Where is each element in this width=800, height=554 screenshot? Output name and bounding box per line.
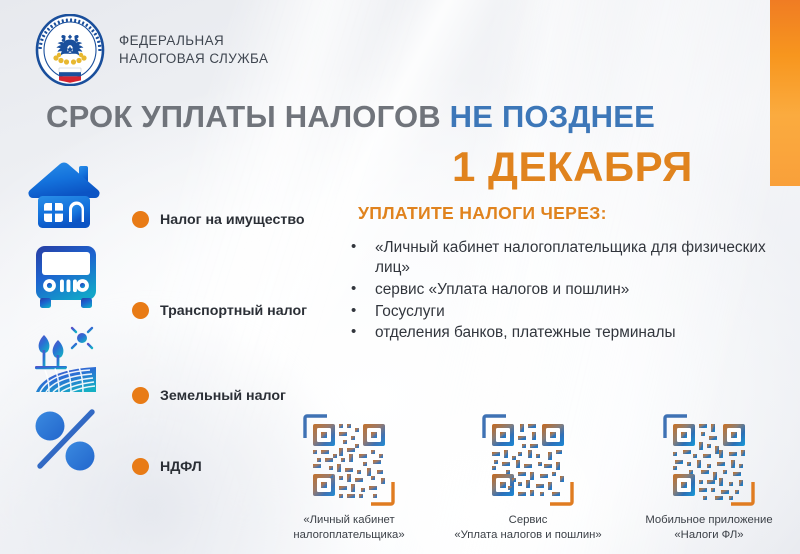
land-field-icon [22, 322, 114, 400]
bullet-dot-icon [132, 458, 149, 475]
chevron-decoration [770, 0, 800, 186]
chevron-decoration-base [770, 0, 800, 186]
tax-item-tag: Транспортный налог [132, 302, 307, 319]
qr-code-image[interactable] [663, 414, 755, 506]
pay-section-title: УПЛАТИТЕ НАЛОГИ ЧЕРЕЗ: [358, 203, 607, 224]
brand-name: ФЕДЕРАЛЬНАЯ НАЛОГОВАЯ СЛУЖБА [119, 32, 268, 67]
tax-item-property: Налог на имущество [16, 158, 326, 240]
qr-caption-line-2: налогоплательщика» [258, 528, 440, 543]
headline-blue-text: НЕ ПОЗДНЕЕ [450, 99, 655, 134]
bullet-dot-icon [132, 211, 149, 228]
deadline-date: 1 ДЕКАБРЯ [452, 143, 693, 191]
qr-code-image[interactable] [303, 414, 395, 506]
tax-item-land: Земельный налог [16, 322, 326, 404]
page-title: СРОК УПЛАТЫ НАЛОГОВ НЕ ПОЗДНЕЕ [46, 99, 655, 135]
pay-method-item: отделения банков, платежные терминалы [341, 323, 771, 343]
qr-caption: Сервис «Уплата налогов и пошлин» [433, 513, 623, 544]
tax-item-tag: Налог на имущество [132, 211, 305, 228]
vehicle-icon [22, 240, 114, 318]
qr-caption: «Личный кабинет налогоплательщика» [258, 513, 440, 544]
pay-method-item: сервис «Уплата налогов и пошлин» [341, 280, 771, 300]
pay-methods-list: «Личный кабинет налогоплательщика для фи… [341, 238, 771, 345]
pay-method-item: «Личный кабинет налогоплательщика для фи… [341, 238, 771, 278]
bullet-dot-icon [132, 387, 149, 404]
tax-item-transport: Транспортный налог [16, 240, 326, 322]
qr-codes-row: «Личный кабинет налогоплательщика» [258, 414, 800, 554]
qr-caption-line-2: «Налоги ФЛ» [618, 528, 800, 543]
qr-caption-line-1: «Личный кабинет [258, 513, 440, 528]
fns-emblem-icon: ​ [34, 14, 106, 86]
tax-item-label: Налог на имущество [160, 212, 305, 228]
pay-method-item: Госуслуги [341, 302, 771, 322]
qr-mobile-app[interactable]: Мобильное приложение «Налоги ФЛ» [618, 414, 800, 544]
tax-item-label: Транспортный налог [160, 303, 307, 319]
headline-gray-text: СРОК УПЛАТЫ НАЛОГОВ [46, 99, 441, 134]
qr-tax-payment-service[interactable]: Сервис «Уплата налогов и пошлин» [433, 414, 623, 544]
qr-code-image[interactable] [482, 414, 574, 506]
tax-item-label: НДФЛ [160, 459, 202, 475]
qr-caption-line-1: Мобильное приложение [618, 513, 800, 528]
brand-line-2: НАЛОГОВАЯ СЛУЖБА [119, 50, 268, 68]
tax-item-tag: Земельный налог [132, 387, 286, 404]
qr-personal-account[interactable]: «Личный кабинет налогоплательщика» [258, 414, 440, 544]
brand-header: ​ [34, 14, 268, 86]
percent-icon [26, 400, 118, 478]
tax-item-tag: НДФЛ [132, 458, 202, 475]
house-icon [22, 158, 114, 236]
brand-line-1: ФЕДЕРАЛЬНАЯ [119, 32, 268, 50]
tax-item-label: Земельный налог [160, 388, 286, 404]
qr-caption: Мобильное приложение «Налоги ФЛ» [618, 513, 800, 544]
bullet-dot-icon [132, 302, 149, 319]
poster-canvas: ​ [0, 0, 800, 554]
qr-caption-line-1: Сервис [433, 513, 623, 528]
qr-caption-line-2: «Уплата налогов и пошлин» [433, 528, 623, 543]
